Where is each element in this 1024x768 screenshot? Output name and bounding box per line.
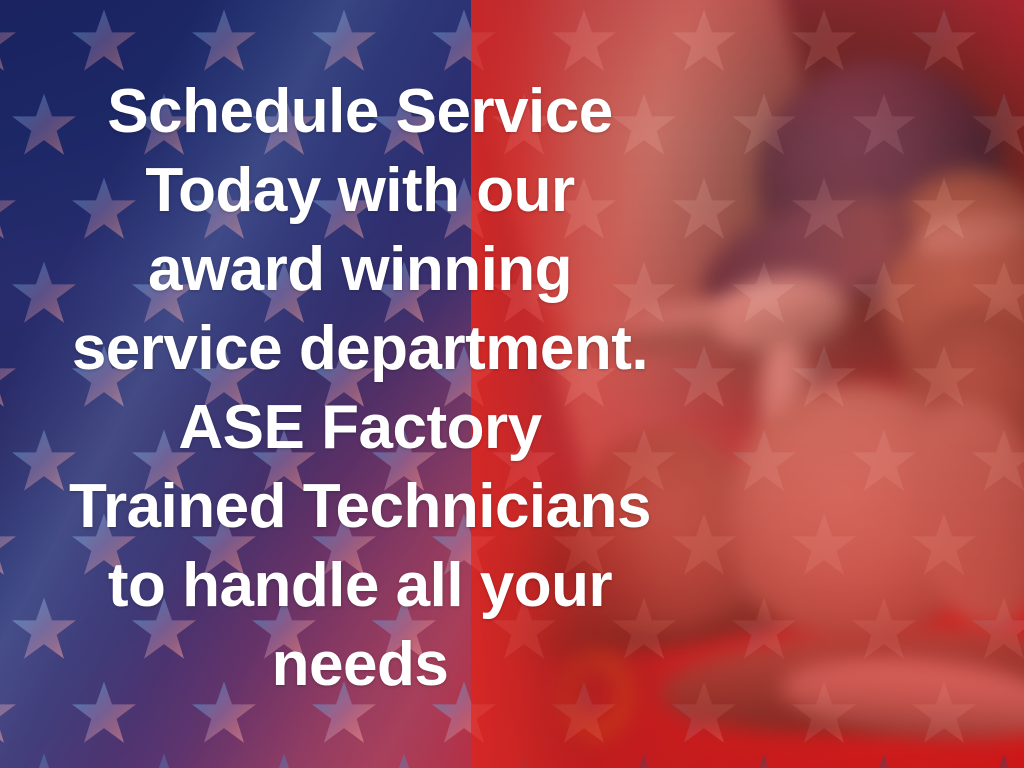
headline-line: Today with our [145,151,574,230]
headline-line: Schedule Service [107,72,613,151]
headline-line: service department. [72,309,648,388]
headline-line: to handle all your [108,546,612,625]
headline-line: needs [272,625,449,704]
headline-line: award winning [148,230,572,309]
headline-line: ASE Factory [178,388,541,467]
headline-text-block: Schedule Service Today with our award wi… [0,0,720,768]
service-promo-banner: Schedule Service Today with our award wi… [0,0,1024,768]
headline-line: Trained Technicians [69,467,651,546]
